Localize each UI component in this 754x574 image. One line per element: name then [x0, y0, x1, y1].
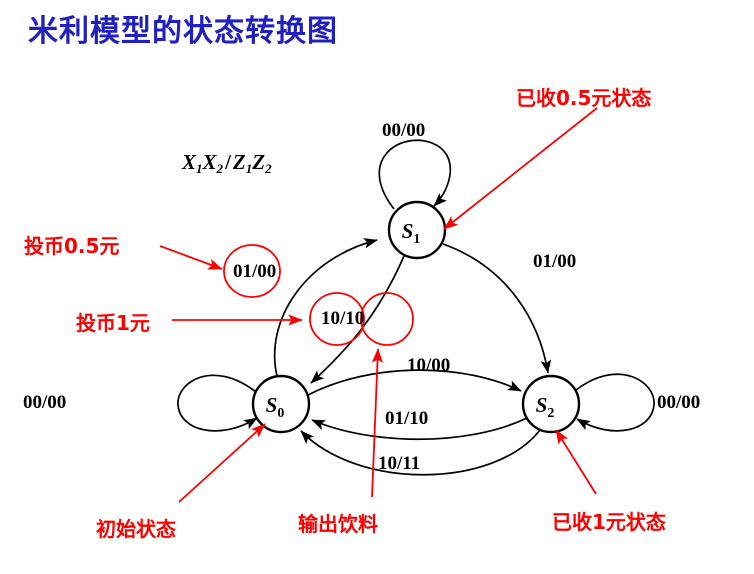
leader-insert-half-yuan	[160, 246, 222, 269]
annotation-output-drink: 输出饮料	[298, 508, 378, 537]
transition-label-S0-self: 00/00	[23, 392, 66, 414]
state-circle-S2[interactable]	[523, 376, 579, 432]
transition-label-S1-to-S2: 01/00	[533, 251, 576, 273]
annotation-insert-half-yuan: 投币0.5元	[24, 230, 119, 259]
state-circle-S1[interactable]	[389, 202, 445, 258]
slide-root: 米利模型的状态转换图 X1X2/Z1Z2	[0, 0, 754, 574]
state-circle-S0[interactable]	[253, 376, 309, 432]
transition-label-S2-self: 00/00	[657, 392, 700, 414]
edge-S2-to-S0-b	[301, 430, 540, 475]
edge-S0-self	[178, 375, 257, 431]
transition-label-S2-to-S0-a: 01/10	[385, 408, 428, 430]
leader-received-half-yuan	[444, 108, 597, 229]
annotation-initial-state: 初始状态	[96, 513, 176, 542]
state-node-S2[interactable]: S2	[523, 376, 579, 432]
leader-initial-state	[179, 424, 265, 502]
state-node-S1[interactable]: S1	[389, 202, 445, 258]
edge-S2-self	[576, 374, 654, 431]
transition-label-S2-to-S0-b: 10/11	[378, 453, 420, 475]
edge-S1-self	[379, 140, 450, 209]
annotation-received-half-yuan: 已收0.5元状态	[516, 82, 651, 111]
transition-label-S0-to-S1: 01/00	[233, 261, 276, 283]
transition-label-S0-to-S2: 10/00	[407, 355, 450, 377]
transition-label-S1-to-S0: 10/10	[321, 308, 364, 330]
annotation-insert-one-yuan: 投币1元	[76, 307, 150, 336]
transition-label-S1-self: 00/00	[382, 120, 425, 142]
state-node-S0[interactable]: S0	[253, 376, 309, 432]
leader-received-one-yuan	[556, 430, 596, 494]
annotation-received-one-yuan: 已收1元状态	[552, 506, 666, 535]
